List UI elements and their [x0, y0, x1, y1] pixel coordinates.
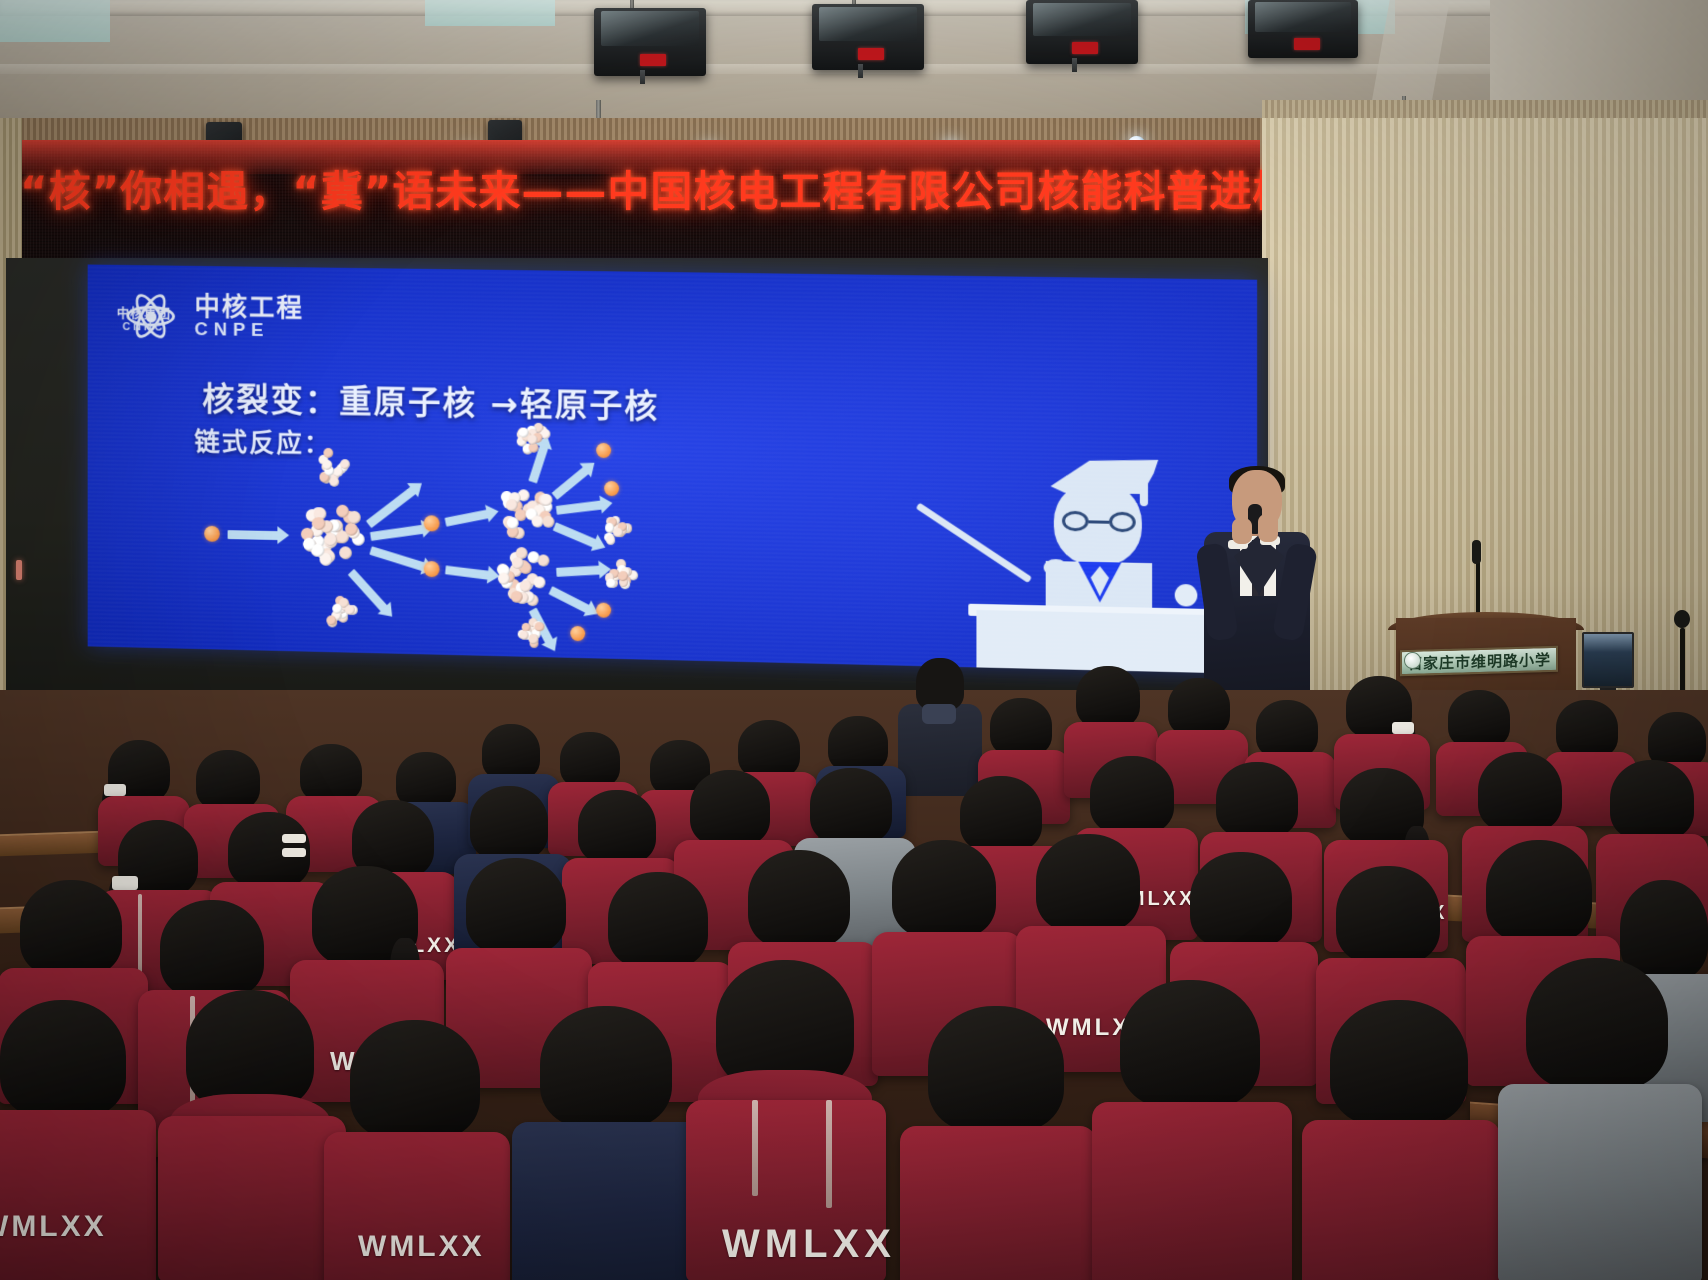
reaction-arrow — [370, 525, 424, 541]
student-uniform — [1092, 1102, 1292, 1280]
speaker-stem — [1072, 58, 1077, 72]
student-uniform — [1302, 1120, 1500, 1280]
reaction-arrow — [366, 486, 416, 528]
student-hair — [470, 786, 548, 860]
speaker-brand-label — [1294, 38, 1320, 50]
student-hair — [1336, 866, 1440, 964]
speaker-brand-label — [1072, 42, 1098, 54]
reaction-arrow — [556, 500, 603, 514]
student-hair — [160, 900, 264, 998]
neutron — [424, 515, 440, 531]
group-name-en: CNNC — [117, 321, 171, 334]
reaction-arrow — [369, 546, 424, 571]
ceiling-light-panel — [0, 0, 110, 42]
student-hair — [1216, 762, 1298, 838]
hair-tie — [104, 784, 126, 796]
company-name-en: CNPE — [194, 320, 269, 342]
student-hair — [1448, 690, 1510, 748]
slide-logo-wordmark: 中核工程 CNPE — [194, 294, 303, 342]
neutron — [604, 481, 619, 496]
student-hair — [1076, 666, 1140, 728]
student-hair — [560, 732, 620, 788]
student — [928, 1006, 1068, 1280]
student-hair — [578, 790, 656, 864]
student-hair — [828, 716, 888, 772]
company-name-cn: 中核工程 — [194, 294, 303, 321]
projection-screen[interactable]: 中核工程 CNPE 中核集团 CNNC 核裂变：重原子核 →轻原子核 链式反应： — [88, 265, 1257, 675]
microphone-head — [1472, 540, 1481, 564]
student-hair — [466, 858, 566, 954]
student-hair — [928, 1006, 1064, 1132]
student-hair — [350, 1020, 480, 1140]
neutron — [596, 443, 611, 458]
neutron — [204, 526, 220, 542]
group-name-cn: 中核集团 — [117, 302, 171, 322]
uniform-logo-text: WMLXX — [0, 1210, 107, 1244]
student — [1526, 958, 1670, 1280]
event-banner-text: “核”你相遇，“冀”语未来——中国核电工程有限公司核能科普进校园 — [20, 158, 1250, 219]
glasses-icon — [1062, 511, 1136, 533]
group-wordmark: 中核集团 CNNC — [117, 302, 171, 333]
reaction-arrow — [445, 565, 489, 579]
student — [1120, 980, 1262, 1280]
school-name-text: 石家庄市维明路小学 — [1407, 648, 1551, 673]
ceiling-speaker — [1248, 0, 1358, 58]
school-emblem-icon — [1404, 652, 1421, 669]
podium-monitor[interactable] — [1582, 632, 1634, 688]
uniform-stripe — [138, 894, 142, 980]
student-uniform: WMLXX — [0, 1110, 156, 1280]
teacher-standing — [892, 658, 988, 788]
cartoon-podium — [976, 610, 1209, 674]
student-uniform — [900, 1126, 1096, 1280]
student-hair — [196, 750, 260, 810]
uniform-stripe — [752, 1100, 758, 1196]
student-hair — [990, 698, 1052, 756]
uniform-stripe — [826, 1100, 832, 1208]
presenter-hand-right — [1258, 514, 1278, 542]
nucleus-fragment — [312, 448, 351, 488]
student-hair — [1168, 678, 1230, 736]
hair-clip — [282, 848, 306, 857]
nucleus-fragment — [321, 592, 358, 631]
student-hair — [482, 724, 540, 780]
uniform-logo-text: WMLXX — [358, 1230, 485, 1264]
teacher-collar — [922, 704, 956, 724]
presenter-hand-left — [1232, 518, 1252, 544]
podium-sign: 石家庄市维明路小学 — [1400, 646, 1558, 676]
student-hair — [1036, 834, 1140, 932]
student-hair — [1090, 756, 1174, 834]
student-hair — [540, 1006, 672, 1128]
student-hair — [1478, 752, 1562, 832]
nucleus-fragment — [515, 421, 553, 460]
reaction-arrow — [548, 586, 589, 613]
cartoon-professor — [960, 450, 1216, 673]
student-hair — [1120, 980, 1260, 1108]
stage-indicator-light — [16, 560, 22, 580]
student — [1330, 1000, 1470, 1280]
student-uniform: WMLXX — [324, 1132, 510, 1280]
ceiling-speaker — [594, 8, 706, 76]
reaction-arrow — [552, 467, 590, 500]
nucleus-cluster — [296, 499, 369, 574]
speaker-stem — [640, 70, 645, 84]
student-uniform: WMLXX — [686, 1100, 886, 1280]
chain-reaction-diagram — [204, 414, 818, 656]
student-hair — [892, 840, 996, 938]
cap-tassel — [1140, 480, 1148, 506]
nucleus-fragment — [513, 617, 547, 652]
microphone-head — [1674, 610, 1690, 628]
speaker-stem — [858, 64, 863, 78]
ceiling-light-panel — [425, 0, 555, 26]
student-hair — [1610, 760, 1694, 840]
student — [186, 990, 318, 1280]
student-hair — [20, 880, 122, 976]
student-hair — [1556, 700, 1618, 758]
student-uniform — [512, 1122, 702, 1280]
speaker-brand-label — [640, 54, 666, 66]
reaction-arrow — [556, 566, 600, 577]
professor-hand — [1175, 584, 1198, 607]
ceiling-speaker — [812, 4, 924, 70]
hair-tie — [1392, 722, 1414, 734]
student: WMLXX — [716, 960, 856, 1280]
student-hair — [748, 850, 850, 948]
student-hair — [0, 1000, 126, 1118]
student-hair — [608, 872, 708, 968]
nucleus-fragment — [600, 513, 636, 550]
teacher-hair — [916, 658, 964, 710]
neutron — [424, 561, 440, 577]
student-hair — [1256, 700, 1318, 758]
neutron — [570, 626, 585, 641]
reaction-arrow — [228, 530, 279, 540]
student — [540, 1006, 674, 1280]
student-hair — [1526, 958, 1668, 1090]
speaker-brand-label — [858, 48, 884, 60]
student-uniform — [158, 1116, 346, 1280]
student-hair — [1486, 840, 1592, 942]
student-hair — [1330, 1000, 1468, 1126]
neutron — [596, 603, 611, 618]
ceiling-speaker — [1026, 0, 1138, 64]
student: WMLXX — [0, 1000, 130, 1280]
auditorium-scene: “核”你相遇，“冀”语未来——中国核电工程有限公司核能科普进校园 中核工程 CN… — [0, 0, 1708, 1280]
student-hair — [690, 770, 770, 846]
reaction-arrow — [553, 522, 597, 548]
nucleus-cluster — [495, 481, 556, 544]
student-hair — [300, 744, 362, 802]
uniform-logo-text: WMLXX — [722, 1222, 896, 1267]
student-uniform — [1498, 1084, 1702, 1280]
microphone-stand — [1680, 628, 1685, 694]
nucleus-cluster — [495, 545, 556, 608]
student: WMLXX — [350, 1020, 484, 1280]
student-hair — [810, 768, 892, 844]
nucleus-fragment — [602, 559, 638, 596]
reaction-arrow — [445, 509, 489, 526]
student-hair — [1190, 852, 1292, 948]
student-hair — [186, 990, 314, 1110]
hair-clip — [282, 834, 306, 843]
